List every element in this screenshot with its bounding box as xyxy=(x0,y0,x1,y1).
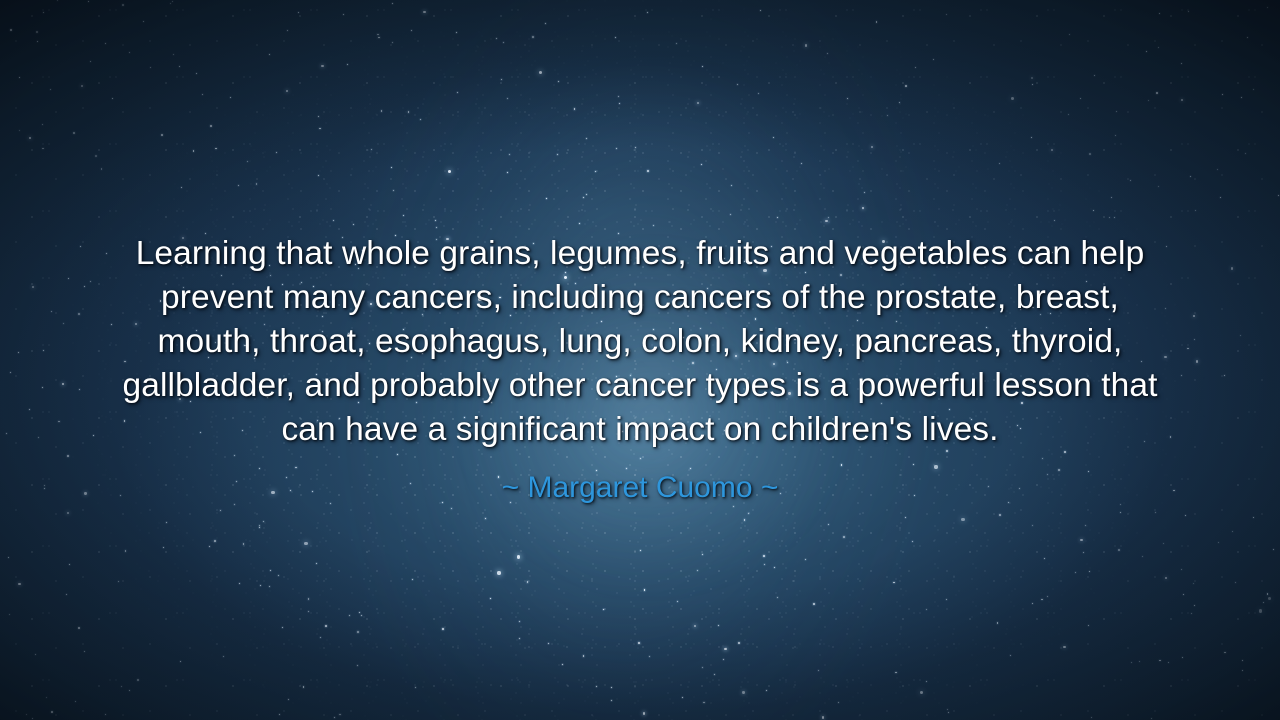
quote-card: Learning that whole grains, legumes, fru… xyxy=(0,0,1280,720)
quote-text: Learning that whole grains, legumes, fru… xyxy=(117,232,1163,452)
quote-attribution: ~ Margaret Cuomo ~ xyxy=(502,468,779,508)
quote-block: Learning that whole grains, legumes, fru… xyxy=(0,232,1280,508)
